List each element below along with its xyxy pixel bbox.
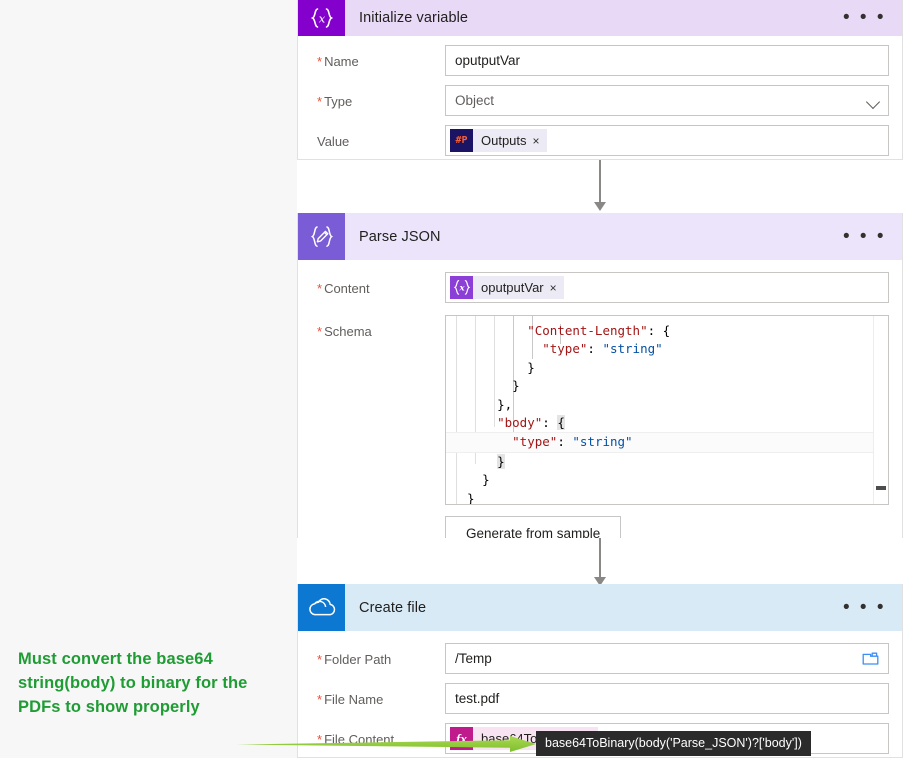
green-pointer-arrow bbox=[236, 735, 536, 753]
schema-code-lines: "Content-Length": {"type": "string"}}},"… bbox=[446, 322, 888, 505]
card-body-initialize-variable: *Name oputputVar *Type Object Value bbox=[298, 36, 902, 156]
schema-code-line: "body": { bbox=[446, 414, 888, 432]
schema-code-line: } bbox=[446, 359, 888, 377]
required-asterisk: * bbox=[317, 54, 322, 69]
required-asterisk: * bbox=[317, 281, 322, 296]
field-row-type: *Type Object bbox=[311, 76, 889, 116]
value-token-input[interactable]: #P Outputs × bbox=[445, 125, 889, 156]
token-remove-icon[interactable]: × bbox=[533, 134, 547, 148]
name-input[interactable]: oputputVar bbox=[445, 45, 889, 76]
schema-code-line: "Content-Length": { bbox=[446, 322, 888, 340]
schema-code-line: } bbox=[446, 453, 888, 471]
folder-path-value: /Temp bbox=[455, 651, 492, 666]
name-input-value: oputputVar bbox=[455, 53, 520, 68]
field-label-folder-path: *Folder Path bbox=[311, 643, 445, 667]
file-name-input[interactable]: test.pdf bbox=[445, 683, 889, 714]
powerapps-token-icon: #P bbox=[450, 129, 473, 152]
field-row-value: Value #P Outputs × bbox=[311, 116, 889, 156]
required-asterisk: * bbox=[317, 324, 322, 339]
schema-scrollbar[interactable] bbox=[873, 316, 888, 504]
schema-code-line: "type": "string" bbox=[446, 340, 888, 358]
connector-arrow-1 bbox=[297, 160, 903, 213]
content-token-input[interactable]: x oputputVar × bbox=[445, 272, 889, 303]
field-row-name: *Name oputputVar bbox=[311, 36, 889, 76]
schema-code-line: "type": "string" bbox=[446, 432, 888, 452]
required-asterisk: * bbox=[317, 94, 322, 109]
token-chip-label: Outputs bbox=[473, 133, 533, 148]
flow-designer-canvas: x Initialize variable • • • *Name oputpu… bbox=[297, 0, 903, 758]
svg-text:x: x bbox=[318, 12, 325, 26]
schema-code-line: } bbox=[446, 377, 888, 395]
field-row-schema: *Schema "Content-Length": {"type": "stri… bbox=[311, 303, 889, 505]
schema-code-line: } bbox=[446, 490, 888, 505]
card-overflow-menu-initialize-variable[interactable]: • • • bbox=[843, 13, 886, 23]
field-row-folder-path: *Folder Path /Temp bbox=[311, 631, 889, 674]
card-header-create-file[interactable]: Create file • • • bbox=[298, 584, 902, 631]
field-label-name: *Name bbox=[311, 45, 445, 69]
token-chip-label: oputputVar bbox=[473, 280, 550, 295]
field-row-content: *Content x oputputVar × bbox=[311, 260, 889, 303]
onedrive-cloud-icon bbox=[298, 584, 345, 631]
card-title-create-file: Create file bbox=[345, 600, 426, 616]
field-label-type: *Type bbox=[311, 85, 445, 109]
field-label-schema: *Schema bbox=[311, 315, 445, 339]
folder-path-input[interactable]: /Temp bbox=[445, 643, 889, 674]
token-chip-oputputvar[interactable]: x oputputVar × bbox=[450, 276, 564, 299]
field-label-content: *Content bbox=[311, 272, 445, 296]
braces-pencil-icon bbox=[298, 213, 345, 260]
action-card-initialize-variable[interactable]: x Initialize variable • • • *Name oputpu… bbox=[297, 0, 903, 160]
required-asterisk: * bbox=[317, 692, 322, 707]
card-overflow-menu-create-file[interactable]: • • • bbox=[843, 603, 886, 613]
folder-picker-icon[interactable] bbox=[862, 651, 879, 669]
card-title-initialize-variable: Initialize variable bbox=[345, 10, 468, 26]
schema-code-line: }, bbox=[446, 396, 888, 414]
type-select[interactable]: Object bbox=[445, 85, 889, 116]
chevron-down-icon[interactable] bbox=[866, 95, 880, 109]
field-label-file-name: *File Name bbox=[311, 683, 445, 707]
card-title-parse-json: Parse JSON bbox=[345, 229, 441, 245]
card-header-parse-json[interactable]: Parse JSON • • • bbox=[298, 213, 902, 260]
file-name-value: test.pdf bbox=[455, 691, 499, 706]
field-row-file-name: *File Name test.pdf bbox=[311, 674, 889, 714]
card-body-parse-json: *Content x oputputVar × bbox=[298, 260, 902, 550]
schema-scrollbar-thumb[interactable] bbox=[876, 486, 886, 490]
type-select-value: Object bbox=[455, 93, 494, 108]
schema-code-editor[interactable]: "Content-Length": {"type": "string"}}},"… bbox=[445, 315, 889, 505]
braces-x-icon: x bbox=[298, 0, 345, 36]
action-card-parse-json[interactable]: Parse JSON • • • *Content x bbox=[297, 213, 903, 538]
expression-tooltip: base64ToBinary(body('Parse_JSON')?['body… bbox=[536, 731, 811, 756]
variable-token-icon: x bbox=[450, 276, 473, 299]
token-chip-outputs[interactable]: #P Outputs × bbox=[450, 129, 547, 152]
svg-text:x: x bbox=[458, 284, 465, 294]
card-header-initialize-variable[interactable]: x Initialize variable • • • bbox=[298, 0, 902, 36]
schema-code-line: } bbox=[446, 471, 888, 489]
required-asterisk: * bbox=[317, 652, 322, 667]
token-remove-icon[interactable]: × bbox=[550, 281, 564, 295]
connector-arrow-2 bbox=[297, 538, 903, 588]
card-overflow-menu-parse-json[interactable]: • • • bbox=[843, 232, 886, 242]
annotation-note: Must convert the base64 string(body) to … bbox=[18, 647, 286, 719]
field-label-value: Value bbox=[311, 125, 445, 149]
